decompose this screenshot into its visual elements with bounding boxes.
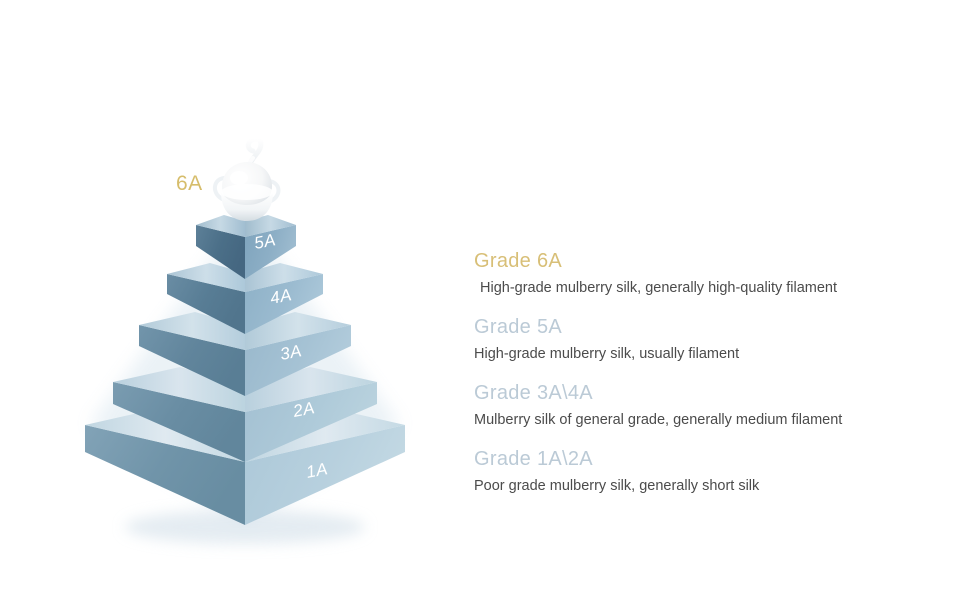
tier-3a-label: 3A — [279, 341, 304, 364]
legend-desc-5a: High-grade mulberry silk, usually filame… — [474, 345, 954, 364]
grade-legend-panel: Grade 6A High-grade mulberry silk, gener… — [474, 248, 954, 496]
legend-entry-3a-4a: Grade 3A\4A Mulberry silk of general gra… — [474, 380, 954, 430]
legend-title-6a: Grade 6A — [474, 248, 954, 274]
pyramid-graphic-panel: 1A 2A 3A 4A — [0, 0, 470, 603]
cocoon-rim-highlight — [221, 184, 273, 200]
apex-grade-6a-label: 6A — [176, 172, 203, 196]
legend-entry-6a: Grade 6A High-grade mulberry silk, gener… — [474, 248, 954, 298]
pyramid-svg: 1A 2A 3A 4A — [0, 0, 470, 603]
legend-entry-1a-2a: Grade 1A\2A Poor grade mulberry silk, ge… — [474, 446, 954, 496]
legend-entry-5a: Grade 5A High-grade mulberry silk, usual… — [474, 314, 954, 364]
legend-title-1a-2a: Grade 1A\2A — [474, 446, 954, 472]
silk-cocoon-icon — [215, 139, 279, 221]
legend-desc-6a: High-grade mulberry silk, generally high… — [474, 279, 954, 298]
legend-title-3a-4a: Grade 3A\4A — [474, 380, 954, 406]
legend-title-5a: Grade 5A — [474, 314, 954, 340]
legend-desc-3a-4a: Mulberry silk of general grade, generall… — [474, 411, 954, 430]
legend-desc-1a-2a: Poor grade mulberry silk, generally shor… — [474, 477, 954, 496]
tier-5a-label: 5A — [253, 230, 278, 253]
tier-4a-label: 4A — [269, 285, 294, 308]
tier-1a-label: 1A — [305, 459, 330, 482]
cocoon-specular-highlight — [230, 171, 248, 185]
